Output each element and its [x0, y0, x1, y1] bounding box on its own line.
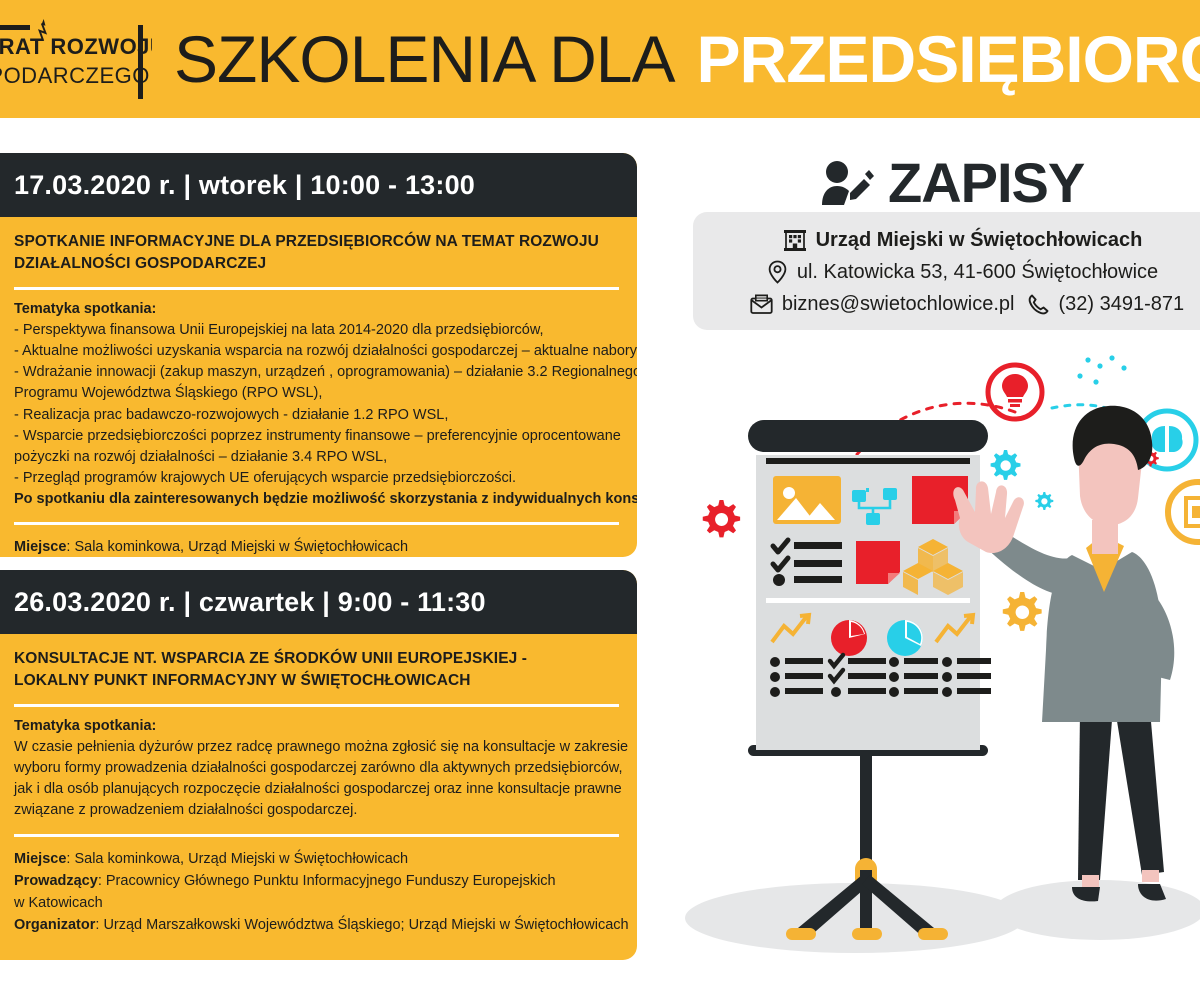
logo-line-2: GOSPODARCZEGO: [0, 63, 150, 89]
gear-icon: [1003, 592, 1042, 631]
envelope-icon: [750, 293, 773, 315]
checklist-icon: [830, 655, 886, 697]
person-leg-right: [1116, 710, 1164, 875]
gear-icon: [703, 500, 740, 537]
event-1-topic-line: - Wdrażanie innowacji (zakup maszyn, urz…: [14, 362, 619, 383]
event-1-date-bar: 17.03.2020 r. | wtorek | 10:00 - 13:00: [0, 153, 637, 217]
event-2-date-bar: 26.03.2020 r. | czwartek | 9:00 - 11:30: [0, 570, 637, 634]
event-2-meta-label: Prowadzący: [14, 873, 98, 889]
bullet-list-icon: [889, 657, 938, 697]
event-2-meta-row: Prowadzący: Pracownicy Głównego Punktu I…: [14, 870, 619, 892]
event-1-date-text: 17.03.2020 r. | wtorek | 10:00 - 13:00: [14, 170, 475, 201]
phone-icon: [1028, 293, 1049, 315]
event-2-topic-line: W czasie pełnienia dyżurów przez radcę p…: [14, 737, 619, 758]
event-1-title-line-1: SPOTKANIE INFORMACYJNE DLA PRZEDSIĘBIORC…: [14, 231, 619, 253]
event-1-meta-row: Miejsce: Sala kominkowa, Urząd Miejski w…: [14, 536, 619, 557]
event-1-divider-bottom: [14, 522, 619, 525]
event-2-divider-bottom: [14, 834, 619, 837]
board-clamp: [748, 420, 988, 452]
event-1-topic-line: - Perspektywa finansowa Unii Europejskie…: [14, 320, 619, 341]
event-2-meta-sep: :: [98, 873, 106, 889]
gear-icon: [1035, 492, 1053, 510]
poster-header: REFERAT ROZWOJU GOSPODARCZEGO SZKOLENIA …: [0, 0, 1200, 118]
logo: REFERAT ROZWOJU GOSPODARCZEGO: [0, 0, 152, 118]
event-1-divider-top: [14, 287, 619, 290]
contact-email-phone-row: biznes@swietochlowice.pl (32) 3491-871: [693, 288, 1200, 320]
bullet-list-icon: [942, 657, 991, 697]
building-icon: [784, 228, 806, 252]
title-part-white: PRZEDSIĘBIORCÓW: [697, 21, 1200, 97]
event-1-body: SPOTKANIE INFORMACYJNE DLA PRZEDSIĘBIORC…: [0, 217, 637, 557]
registration-contact-card: Urząd Miejski w Świętochłowicach ul. Kat…: [693, 212, 1200, 330]
event-1-meta-value: Sala kominkowa, Urząd Miejski w Świętoch…: [74, 539, 408, 555]
registration-heading: ZAPISY: [820, 150, 1084, 215]
event-1-topic-label: Tematyka spotkania:: [14, 301, 619, 317]
event-2-meta-label: Miejsce: [14, 851, 66, 867]
arrow-up-icon: [34, 19, 54, 41]
pie-chart-icon: [831, 620, 867, 656]
event-1-topic-line: - Aktualne możliwości uzyskania wsparcia…: [14, 341, 619, 362]
event-2-body: KONSULTACJE NT. WSPARCIA ZE ŚRODKÓW UNII…: [0, 634, 637, 946]
person-leg-left: [1078, 710, 1112, 880]
flipchart-board: [748, 420, 991, 750]
user-edit-icon: [820, 160, 874, 206]
presenter-with-flipchart-illustration: [680, 350, 1200, 990]
event-2-meta-value: Pracownicy Głównego Punktu Informacyjneg…: [106, 873, 556, 889]
logo-line-1: REFERAT ROZWOJU: [0, 34, 152, 60]
event-2-topic-line: jak i dla osób planujących rozpoczęcie d…: [14, 779, 619, 800]
map-pin-icon: [768, 260, 787, 284]
event-1-meta-label: Miejsce: [14, 539, 66, 555]
gear-icon: [991, 450, 1021, 480]
registration-heading-text: ZAPISY: [888, 150, 1084, 215]
pie-chart-icon: [887, 620, 923, 656]
checklist-icon: [773, 540, 842, 586]
event-2-meta-value: Urząd Marszałkowski Województwa Śląskieg…: [103, 917, 628, 933]
event-2-meta-row: Organizator: Urząd Marszałkowski Wojewód…: [14, 914, 619, 936]
person-neck: [1092, 520, 1118, 554]
poster-title: SZKOLENIA DLA PRZEDSIĘBIORCÓW: [152, 0, 1200, 118]
event-2-topic-line: związane z prowadzeniem działalności gos…: [14, 800, 619, 821]
dots-cyan: [1077, 355, 1126, 384]
event-1-topic-line: Programu Województwa Śląskiego (RPO WSL)…: [14, 383, 619, 404]
contact-address-row: ul. Katowicka 53, 41-600 Świętochłowice: [693, 256, 1200, 288]
contact-email[interactable]: biznes@swietochlowice.pl: [750, 293, 1015, 316]
event-2-meta-row: Miejsce: Sala kominkowa, Urząd Miejski w…: [14, 848, 619, 870]
contact-phone[interactable]: (32) 3491-871: [1028, 293, 1184, 316]
contact-office-text: Urząd Miejski w Świętochłowicach: [816, 229, 1143, 252]
event-1-title-line-2: DZIAŁALNOŚCI GOSPODARCZEJ: [14, 253, 619, 275]
event-2-title-line-2: LOKALNY PUNKT INFORMACYJNY W ŚWIĘTOCHŁOW…: [14, 670, 619, 692]
event-2-topic-label: Tematyka spotkania:: [14, 718, 619, 734]
logo-top-rule: [0, 25, 30, 30]
sticky-note-icon: [856, 541, 900, 584]
contact-phone-text[interactable]: (32) 3491-871: [1058, 293, 1184, 316]
event-2-meta-value: Sala kominkowa, Urząd Miejski w Świętoch…: [74, 851, 408, 867]
event-2-topic-line: wyboru formy prowadzenia działalności go…: [14, 758, 619, 779]
event-2-divider-top: [14, 704, 619, 707]
event-2-title-line-1: KONSULTACJE NT. WSPARCIA ZE ŚRODKÓW UNII…: [14, 648, 619, 670]
event-2-meta-value: w Katowicach: [14, 895, 103, 911]
document-circle-icon: [1168, 482, 1200, 542]
event-1-topic-line: - Realizacja prac badawczo-rozwojowych -…: [14, 405, 619, 426]
title-part-dark: SZKOLENIA DLA: [174, 21, 675, 97]
contact-address-text: ul. Katowicka 53, 41-600 Świętochłowice: [797, 261, 1158, 284]
bullet-list-icon: [770, 657, 823, 697]
event-1-topic-line: - Przegląd programów krajowych UE oferuj…: [14, 468, 619, 489]
event-2-meta-label: Organizator: [14, 917, 95, 933]
event-block-2: 26.03.2020 r. | czwartek | 9:00 - 11:30 …: [0, 570, 637, 960]
event-2-meta-row: w Katowicach: [14, 892, 619, 914]
event-1-topic-line: - Wsparcie przedsiębiorczości poprzez in…: [14, 426, 619, 447]
contact-email-text[interactable]: biznes@swietochlowice.pl: [782, 293, 1015, 316]
event-1-topic-note: Po spotkaniu dla zainteresowanych będzie…: [14, 489, 619, 510]
event-2-date-text: 26.03.2020 r. | czwartek | 9:00 - 11:30: [14, 587, 486, 618]
presenter-person: [953, 406, 1174, 902]
event-block-1: 17.03.2020 r. | wtorek | 10:00 - 13:00 S…: [0, 153, 637, 557]
event-1-topic-line: pożyczki na rozwój działalności – działa…: [14, 447, 619, 468]
contact-office-row: Urząd Miejski w Świętochłowicach: [693, 224, 1200, 256]
